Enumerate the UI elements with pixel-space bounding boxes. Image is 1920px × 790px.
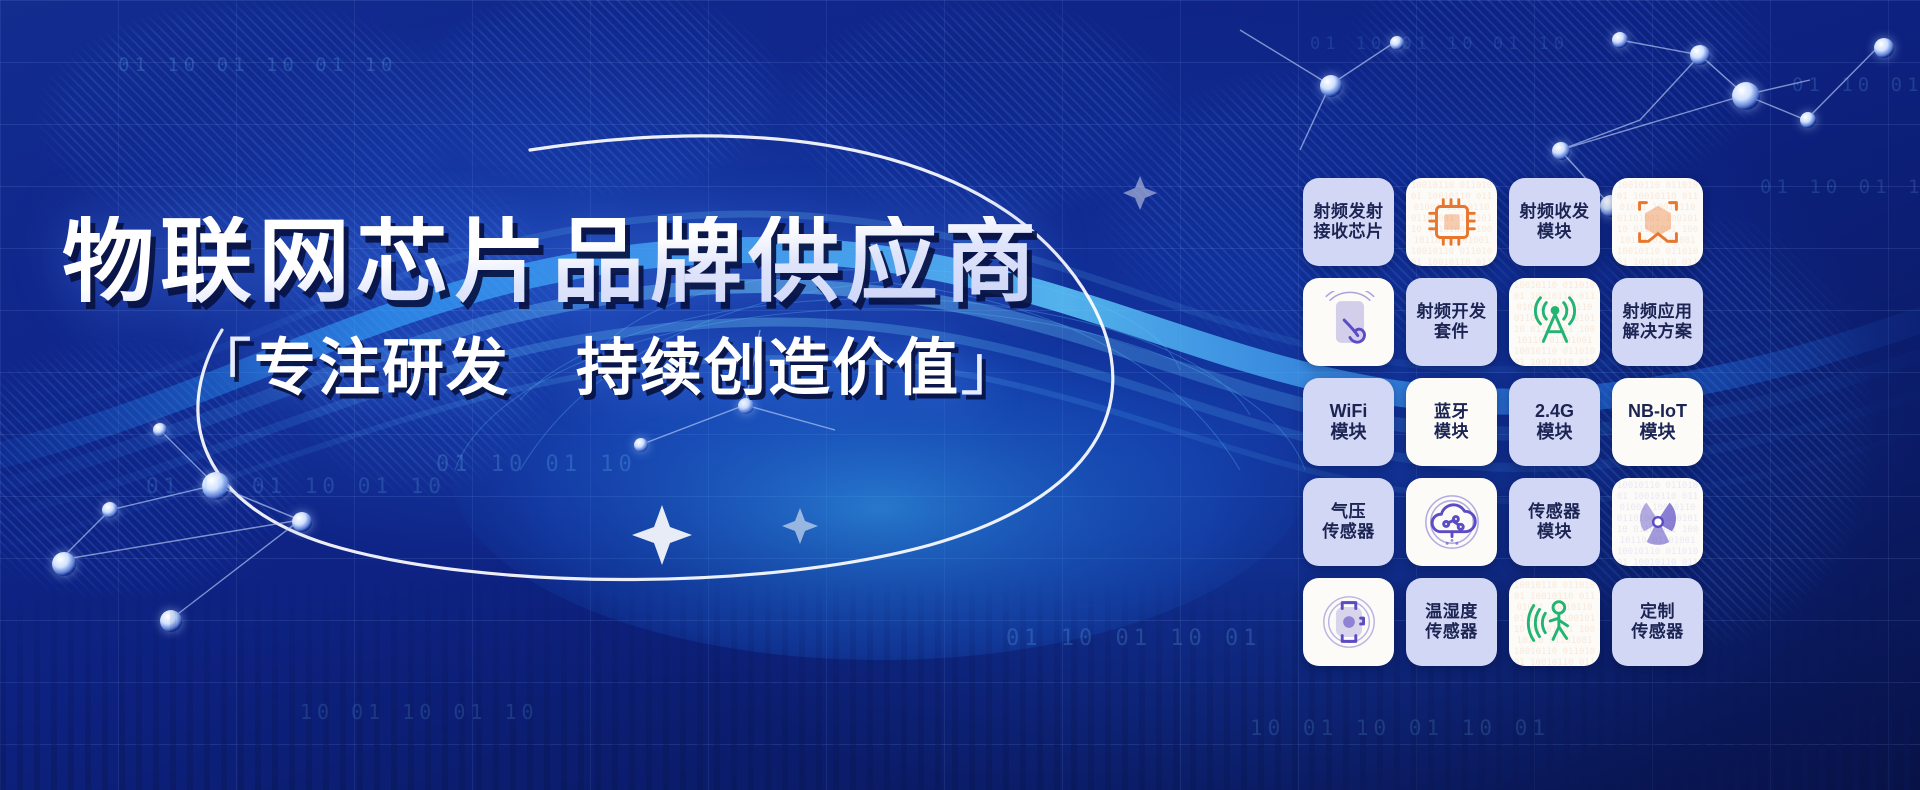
binary-text: 01 10 01 10 01 10 <box>146 474 446 498</box>
network-node <box>1800 112 1816 128</box>
tile-label-line: 套件 <box>1434 322 1469 341</box>
tile-24g-module[interactable]: 2.4G模块 <box>1509 378 1600 466</box>
network-node <box>1320 75 1342 97</box>
tile-label-line: 定制 <box>1640 602 1675 621</box>
tile-label-line: 蓝牙 <box>1434 402 1469 421</box>
tile-motion-sensor-icon-tile[interactable]: 10010110 01101001 10010110 01101001 1001… <box>1509 578 1600 666</box>
tile-label: 射频开发套件 <box>1417 302 1487 342</box>
tile-label: 温湿度传感器 <box>1425 602 1478 642</box>
network-node <box>160 610 182 632</box>
tile-rf-solution-icon-tile[interactable]: 10010110 01101001 10010110 01101001 1001… <box>1612 178 1703 266</box>
tile-label-line: 传感器 <box>1322 522 1375 541</box>
binary-text: 01 10 01 10 <box>1760 176 1920 198</box>
tile-touch-device-icon-tile[interactable] <box>1303 278 1394 366</box>
tile-label: NB-IoT模块 <box>1628 401 1687 443</box>
cube-hands-icon <box>1627 191 1689 253</box>
subtitle-close-bracket: 」 <box>960 334 1024 403</box>
tile-row: WiFi模块蓝牙模块2.4G模块NB-IoT模块 <box>1303 378 1703 466</box>
tile-temp-humidity-sensor[interactable]: 温湿度传感器 <box>1406 578 1497 666</box>
chip-icon <box>1421 191 1483 253</box>
tile-label: 蓝牙模块 <box>1434 402 1469 442</box>
tile-rf-transceiver-module[interactable]: 射频收发模块 <box>1509 178 1600 266</box>
tile-air-pressure-sensor[interactable]: 气压传感器 <box>1303 478 1394 566</box>
page-title: 物联网芯片品牌供应商 <box>62 216 1042 308</box>
tile-rf-development-kit[interactable]: 射频开发套件 <box>1406 278 1497 366</box>
motion-person-icon <box>1524 591 1586 653</box>
iot-chip-banner: 01 10 01 10 01 10 01 10 01 10 01 10 01 1… <box>0 0 1920 790</box>
tile-nb-iot-module[interactable]: NB-IoT模块 <box>1612 378 1703 466</box>
network-node <box>634 438 648 452</box>
binary-text: 01 10 01 10 01 <box>1006 626 1261 651</box>
binary-text: 01 10 01 10 01 10 <box>118 54 397 76</box>
subtitle-left-text: 专注研发 <box>254 334 510 403</box>
network-node <box>1874 38 1894 58</box>
tile-label-line: 模块 <box>1537 422 1573 442</box>
tile-label-line: 模块 <box>1330 422 1366 442</box>
network-node <box>1552 142 1570 160</box>
tile-label: 2.4G模块 <box>1535 401 1574 443</box>
tile-bluetooth-module[interactable]: 蓝牙模块 <box>1406 378 1497 466</box>
binary-text: 10 01 10 01 10 01 <box>1250 716 1550 740</box>
tile-chip-icon-tile[interactable]: 10010110 01101001 10010110 01101001 1001… <box>1406 178 1497 266</box>
cloud-circuit-icon <box>1421 491 1483 553</box>
tile-label: 传感器模块 <box>1528 502 1581 542</box>
tile-smart-watch-icon-tile[interactable] <box>1303 578 1394 666</box>
tile-wifi-module[interactable]: WiFi模块 <box>1303 378 1394 466</box>
tile-row: 气压传感器传感器模块10010110 01101001 10010110 011… <box>1303 478 1703 566</box>
tile-label-line: NB-IoT <box>1628 401 1687 421</box>
subtitle-open-bracket: 「 <box>190 334 254 403</box>
network-node <box>1390 36 1404 50</box>
network-node <box>202 472 230 500</box>
tile-cloud-circuit-icon-tile[interactable] <box>1406 478 1497 566</box>
network-node <box>153 423 167 437</box>
tile-label-line: 温湿度 <box>1425 602 1478 621</box>
tile-row: 温湿度传感器10010110 01101001 10010110 0110100… <box>1303 578 1703 666</box>
tile-label-line: 2.4G <box>1535 401 1574 421</box>
binary-text: 10 01 10 01 10 <box>300 700 539 724</box>
network-node <box>52 552 76 576</box>
tile-label-line: 气压 <box>1331 502 1366 521</box>
tile-row: 射频开发套件10010110 01101001 10010110 0110100… <box>1303 278 1703 366</box>
tile-label-line: 模块 <box>1537 522 1572 541</box>
tile-label-line: 传感器 <box>1425 622 1478 641</box>
tile-label-line: 射频开发 <box>1417 302 1487 321</box>
tile-label-line: 传感器 <box>1528 502 1581 521</box>
tile-label: 射频发射接收芯片 <box>1314 202 1384 242</box>
tile-label-line: 解决方案 <box>1623 322 1693 341</box>
network-node <box>1612 32 1628 48</box>
tile-rf-application-solution[interactable]: 射频应用解决方案 <box>1612 278 1703 366</box>
product-tile-grid: 射频发射接收芯片10010110 01101001 10010110 01101… <box>1303 178 1703 678</box>
headline-block: 物联网芯片品牌供应商 <box>62 216 1042 308</box>
antenna-tower-icon <box>1524 291 1586 353</box>
tile-label: 气压传感器 <box>1322 502 1375 542</box>
tile-label-line: 模块 <box>1639 422 1675 442</box>
tile-label: WiFi模块 <box>1330 401 1368 443</box>
tile-rf-transmit-receive-chip[interactable]: 射频发射接收芯片 <box>1303 178 1394 266</box>
subtitle: 「专注研发持续创造价值」 <box>190 338 1024 400</box>
tile-label: 射频收发模块 <box>1520 202 1590 242</box>
binary-text: 01 10 01 10 <box>1792 74 1920 96</box>
tile-label-line: 接收芯片 <box>1314 222 1384 241</box>
network-node <box>1732 82 1760 110</box>
smart-watch-icon <box>1318 591 1380 653</box>
tile-label-line: 射频应用 <box>1623 302 1693 321</box>
tile-custom-sensor[interactable]: 定制传感器 <box>1612 578 1703 666</box>
radiation-icon <box>1627 491 1689 553</box>
binary-text: 01 10 01 10 01 10 <box>1310 34 1569 54</box>
touch-device-icon <box>1318 291 1380 353</box>
binary-text: 01 10 01 10 <box>436 452 637 477</box>
tile-label: 射频应用解决方案 <box>1623 302 1693 342</box>
tile-label-line: 传感器 <box>1631 622 1684 641</box>
tile-label: 定制传感器 <box>1631 602 1684 642</box>
tile-radiation-sensor-icon-tile[interactable]: 10010110 01101001 10010110 01101001 1001… <box>1612 478 1703 566</box>
network-node <box>102 502 118 518</box>
tile-label-line: 射频收发 <box>1520 202 1590 221</box>
tile-label-line: 模块 <box>1434 422 1469 441</box>
tile-label-line: 模块 <box>1537 222 1572 241</box>
tile-sensor-module[interactable]: 传感器模块 <box>1509 478 1600 566</box>
subtitle-right-text: 持续创造价值 <box>576 334 960 403</box>
tile-label-line: WiFi <box>1330 401 1368 421</box>
tile-antenna-tower-icon-tile[interactable]: 10010110 01101001 10010110 01101001 1001… <box>1509 278 1600 366</box>
tile-label-line: 射频发射 <box>1314 202 1384 221</box>
network-node <box>292 512 312 532</box>
tile-row: 射频发射接收芯片10010110 01101001 10010110 01101… <box>1303 178 1703 266</box>
network-node <box>1690 45 1710 65</box>
